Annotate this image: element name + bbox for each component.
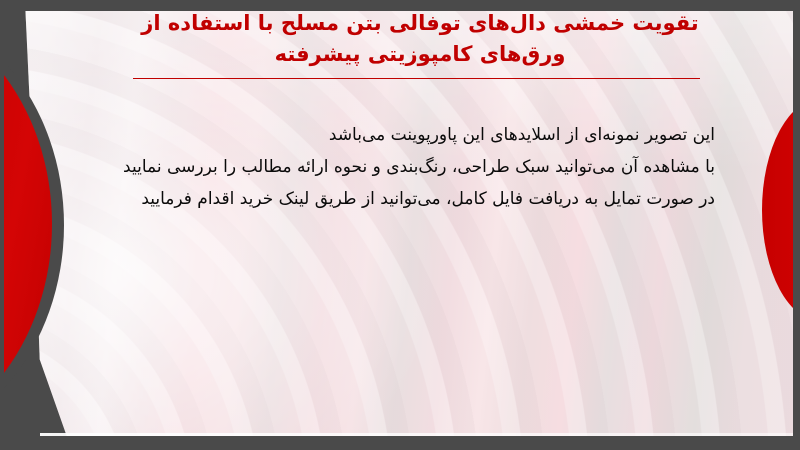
frame-bottom-band <box>0 436 800 450</box>
body-line-3: در صورت تمایل به دریافت فایل کامل، می‌تو… <box>75 183 715 215</box>
title-underline-rule <box>133 78 700 79</box>
slide-background-surface <box>0 10 794 436</box>
frame-left-band <box>0 0 4 450</box>
slide-title: تقویت خمشی دال‌های توفالی بتن مسلح با اس… <box>120 8 720 70</box>
slide-body-text: این تصویر نمونه‌ای از اسلایدهای این پاور… <box>75 119 715 215</box>
frame-right-band <box>793 0 800 450</box>
body-line-1: این تصویر نمونه‌ای از اسلایدهای این پاور… <box>75 119 715 151</box>
body-line-2: با مشاهده آن می‌توانید سبک طراحی، رنگ‌بن… <box>75 151 715 183</box>
title-line-1: تقویت خمشی دال‌های توفالی بتن مسلح با اس… <box>120 8 720 39</box>
title-line-2: ورق‌های کامپوزیتی پیشرفته <box>120 39 720 70</box>
presentation-slide: تقویت خمشی دال‌های توفالی بتن مسلح با اس… <box>0 0 800 450</box>
